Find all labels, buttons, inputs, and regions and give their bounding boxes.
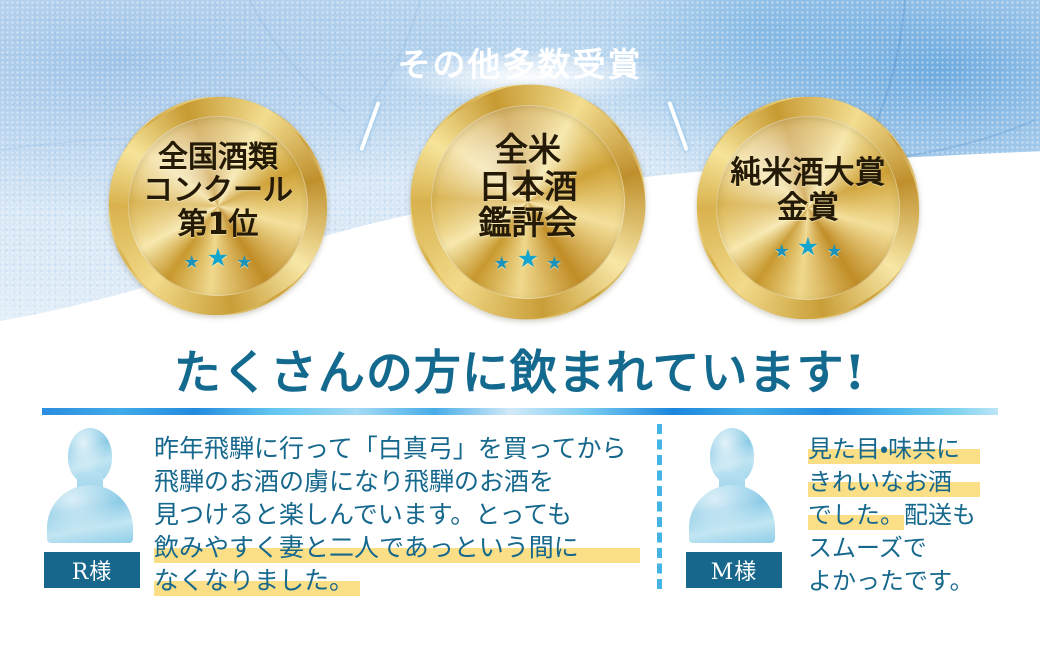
section-divider: [42, 408, 998, 415]
medal-line: 全米: [495, 132, 561, 169]
testimonial-quote: 見た目・味共に きれいなお酒 でした。配送も スムーズで よかったです。: [808, 434, 980, 599]
medal-zenkoku-shurui: 全国酒類 コンクール 第1位 ★ ★ ★: [112, 100, 324, 312]
medal-face: 全米 日本酒 鑑評会 ★ ★ ★: [414, 88, 642, 316]
medal-stars: ★ ★ ★: [494, 247, 563, 272]
quote-line: 飲みやすく妻と二人であっという間に: [154, 533, 640, 563]
medal-line: 第1位: [178, 208, 259, 242]
quote-line: 飛騨のお酒の虜になり飛騨のお酒を: [154, 467, 640, 497]
testimonial-name-badge: M様: [686, 552, 782, 588]
testimonial-m: M様 見た目・味共に きれいなお酒 でした。配送も スムーズで よかったです。: [686, 428, 1006, 598]
testimonial-r: R様 昨年飛騨に行って「白真弓」を買ってから 飛騨のお酒の虜になり飛騨のお酒を …: [44, 428, 644, 598]
quote-line: 見つけると楽しんでいます。とっても: [154, 500, 640, 530]
medal-line: 全国酒類: [158, 141, 278, 175]
medal-stars: ★ ★ ★: [774, 235, 843, 260]
testimonial-quote: 昨年飛騨に行って「白真弓」を買ってから 飛騨のお酒の虜になり飛騨のお酒を 見つけ…: [154, 434, 640, 599]
star-icon: ★: [546, 254, 562, 272]
avatar: [689, 428, 775, 543]
medal-zenbei-nihonshu: 全米 日本酒 鑑評会 ★ ★ ★: [414, 88, 642, 316]
star-icon: ★: [184, 253, 200, 271]
medal-line: 純米酒大賞: [731, 156, 886, 191]
star-icon: ★: [797, 235, 819, 260]
quote-line: スムーズで: [808, 533, 980, 563]
avatar-body: [689, 485, 775, 543]
medal-face: 全国酒類 コンクール 第1位 ★ ★ ★: [112, 100, 324, 312]
star-icon: ★: [517, 247, 539, 272]
quote-line: 見た目・味共に: [808, 434, 980, 464]
medal-line: 金賞: [777, 191, 839, 226]
avatar: [47, 428, 133, 543]
quote-line: きれいなお酒: [808, 467, 980, 497]
medal-junmaishu-taisho: 純米酒大賞 金賞 ★ ★ ★: [700, 100, 916, 316]
star-icon: ★: [826, 242, 842, 260]
award-header-label: その他多数受賞: [0, 38, 1040, 86]
star-icon: ★: [207, 246, 229, 271]
medal-line: 日本酒: [479, 169, 578, 206]
star-icon: ★: [236, 253, 252, 271]
medal-face: 純米酒大賞 金賞 ★ ★ ★: [700, 100, 916, 316]
testimonial-vertical-divider: [657, 424, 662, 589]
medal-stars: ★ ★ ★: [184, 246, 253, 271]
star-icon: ★: [494, 254, 510, 272]
medal-line: 鑑評会: [479, 205, 578, 242]
quote-line: でした。配送も: [808, 500, 904, 530]
medal-line: コンクール: [143, 174, 293, 208]
quote-line: よかったです。: [808, 566, 980, 596]
quote-line: なくなりました。: [154, 566, 360, 596]
promo-banner: その他多数受賞 全国酒類 コンクール 第1位 ★ ★ ★ 全米 日本酒 鑑評会 …: [0, 0, 1040, 646]
quote-line: 昨年飛騨に行って「白真弓」を買ってから: [154, 434, 640, 464]
avatar-body: [47, 485, 133, 543]
page-headline: たくさんの方に飲まれています!: [0, 334, 1040, 403]
testimonial-name-badge: R様: [44, 552, 140, 588]
star-icon: ★: [774, 242, 790, 260]
